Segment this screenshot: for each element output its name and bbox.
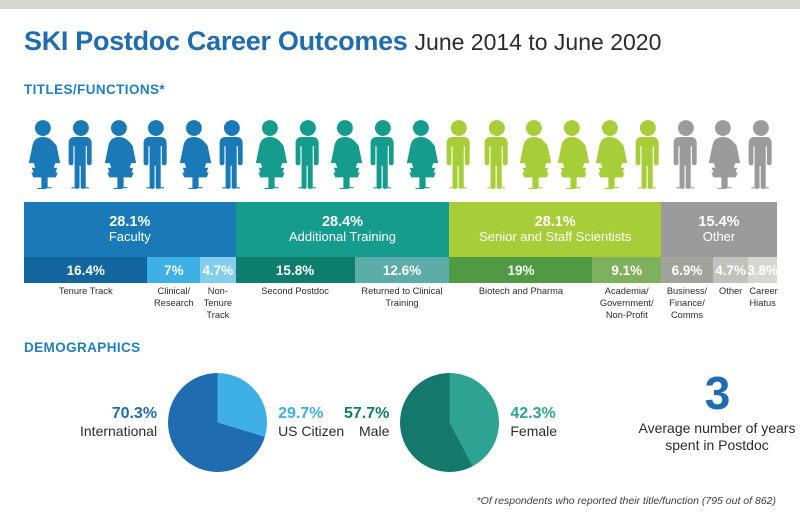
bar-segment-additional-training: 28.4% Additional Training [236, 202, 450, 257]
gender-male-pct: 57.7% [344, 404, 389, 424]
bar-sub-row: 16.4% 7% 4.7% 15.8% 12.6% 19% 9.1% 6.9% … [24, 257, 777, 283]
bar-label-returned-clinical-training: Returned to Clinical Training [355, 286, 450, 332]
stacked-bar-chart: 28.1% Faculty 28.4% Additional Training … [24, 202, 777, 332]
bar-sub-tenure-track: 16.4% [24, 257, 147, 283]
people-icon-row [24, 117, 780, 189]
person-icon-male [629, 119, 667, 189]
average-years-caption: Average number of years spent in Postdoc [637, 420, 797, 454]
bar-sub-returned-clinical-training: 12.6% [355, 257, 450, 283]
footnote: *Of respondents who reported their title… [477, 495, 776, 507]
gender-male-label: Male [344, 423, 389, 440]
bar-segment-faculty: 28.1% Faculty [24, 202, 236, 257]
citizenship-us-text: 29.7% US Citizen [278, 404, 344, 441]
bar-segment-additional-training-pct: 28.4% [322, 214, 363, 230]
bar-label-tenure-track: Tenure Track [24, 286, 147, 332]
bar-label-career-hiatus: Career Hiatus [748, 286, 777, 332]
person-icon-male [62, 119, 100, 189]
gender-female-text: 42.3% Female [510, 404, 557, 441]
person-icon-female [591, 119, 629, 189]
person-icon-male [742, 119, 780, 189]
section-heading-demographics: DEMOGRAPHICS [24, 340, 141, 355]
section-heading-titles-functions: TITLES/FUNCTIONS* [24, 82, 165, 97]
bar-label-clinical-research: Clinical/ Research [147, 286, 200, 332]
page-title: SKI Postdoc Career Outcomes [24, 26, 408, 56]
person-icon-female [515, 119, 553, 189]
demographic-citizenship: 70.3% International 29.7% US Citizen [80, 370, 344, 474]
bar-segment-other: 15.4% Other [661, 202, 777, 257]
average-years-stat: 3 Average number of years spent in Postd… [637, 370, 797, 454]
bar-segment-faculty-label: Faculty [109, 230, 151, 245]
average-years-number: 3 [637, 370, 797, 416]
person-icon-male [364, 119, 402, 189]
bar-label-non-tenure-track: Non- Tenure Track [200, 286, 235, 332]
bar-sub-career-hiatus: 3.8% [748, 257, 777, 283]
person-icon-female [326, 119, 364, 189]
bar-label-academia-government-nonprofit: Academia/ Government/ Non-Profit [592, 286, 661, 332]
gender-male-text: 57.7% Male [344, 404, 389, 441]
bar-segment-additional-training-label: Additional Training [289, 230, 396, 245]
person-icon-female [704, 119, 742, 189]
gender-female-label: Female [510, 423, 557, 440]
bar-sub-other-career: 4.7% [713, 257, 748, 283]
person-icon-female [553, 119, 591, 189]
person-icon-male [213, 119, 251, 189]
citizenship-international-text: 70.3% International [80, 404, 157, 441]
bar-sub-label-row: Tenure Track Clinical/ Research Non- Ten… [24, 286, 777, 332]
citizenship-us-label: US Citizen [278, 423, 344, 440]
demographic-gender: 57.7% Male 42.3% Female [344, 370, 557, 474]
bar-sub-clinical-research: 7% [147, 257, 200, 283]
demographics-row: 70.3% International 29.7% US Citizen 57.… [24, 370, 780, 480]
bar-label-biotech-pharma: Biotech and Pharma [449, 286, 592, 332]
person-icon-male [440, 119, 478, 189]
bar-sub-non-tenure-track: 4.7% [200, 257, 235, 283]
person-icon-female [100, 119, 138, 189]
title-line: SKI Postdoc Career OutcomesJune 2014 to … [24, 26, 784, 57]
bar-label-second-postdoc: Second Postdoc [236, 286, 355, 332]
bar-segment-senior-staff-scientists: 28.1% Senior and Staff Scientists [449, 202, 661, 257]
bar-label-business-finance-comms: Business/ Finance/ Comms [661, 286, 713, 332]
person-icon-male [137, 119, 175, 189]
person-icon-female [402, 119, 440, 189]
citizenship-international-pct: 70.3% [80, 404, 157, 424]
person-icon-male [289, 119, 327, 189]
bar-sub-biotech-pharma: 19% [449, 257, 592, 283]
gender-pie-chart [400, 373, 499, 472]
bar-sub-second-postdoc: 15.8% [236, 257, 355, 283]
citizenship-us-pct: 29.7% [278, 404, 344, 424]
person-icon-female [175, 119, 213, 189]
person-icon-male [667, 119, 705, 189]
bar-segment-other-label: Other [703, 230, 736, 245]
citizenship-pie-chart [168, 373, 267, 472]
bar-segment-faculty-pct: 28.1% [109, 214, 150, 230]
gender-female-pct: 42.3% [510, 404, 557, 424]
top-accent-strip [0, 0, 800, 9]
date-range: June 2014 to June 2020 [415, 29, 662, 55]
bar-top-row: 28.1% Faculty 28.4% Additional Training … [24, 202, 777, 257]
bar-segment-other-pct: 15.4% [698, 214, 739, 230]
bar-label-other-career: Other [713, 286, 748, 332]
person-icon-female [251, 119, 289, 189]
citizenship-international-label: International [80, 423, 157, 440]
bar-segment-senior-staff-scientists-label: Senior and Staff Scientists [479, 230, 631, 245]
bar-segment-senior-staff-scientists-pct: 28.1% [535, 214, 576, 230]
bar-sub-academia-government-nonprofit: 9.1% [592, 257, 661, 283]
person-icon-female [24, 119, 62, 189]
bar-sub-business-finance-comms: 6.9% [661, 257, 713, 283]
page-header: SKI Postdoc Career OutcomesJune 2014 to … [24, 26, 784, 57]
person-icon-male [478, 119, 516, 189]
